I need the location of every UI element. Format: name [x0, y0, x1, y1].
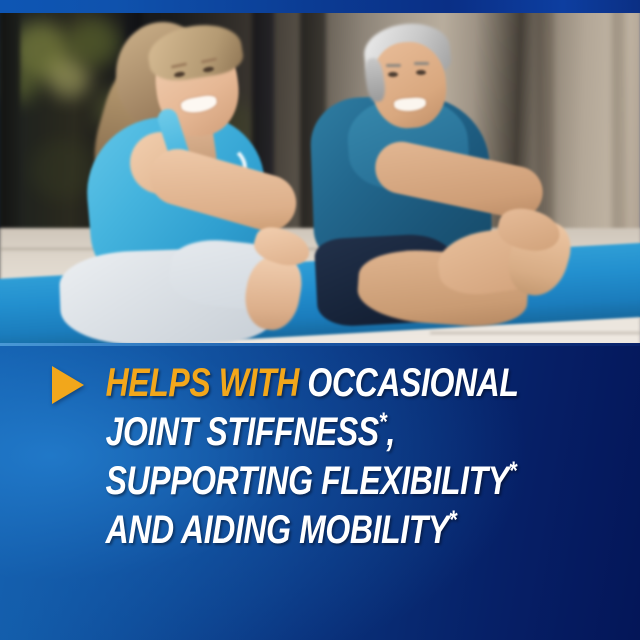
benefit-line-2: JOINT STIFFNESS*, — [0, 408, 512, 457]
man-stretching — [312, 14, 612, 346]
man-eyebrow — [386, 64, 401, 67]
benefit-line-2-tail: , — [386, 410, 395, 454]
benefit-line-3-asterisk: * — [509, 456, 517, 486]
man-eye — [388, 72, 398, 77]
woman-stretching — [40, 12, 340, 346]
top-blue-strip — [0, 0, 640, 13]
benefit-line-2-asterisk: * — [379, 407, 387, 437]
man-eyebrow — [414, 62, 429, 65]
benefit-line-3: SUPPORTING FLEXIBILITY* — [0, 457, 512, 506]
benefit-message-text: HELPS WITH OCCASIONAL JOINT STIFFNESS*, … — [0, 343, 640, 555]
man-eye — [416, 70, 426, 75]
benefit-line-3-text: SUPPORTING FLEXIBILITY — [106, 459, 509, 503]
benefit-line-1-rest: OCCASIONAL — [299, 361, 519, 405]
lifestyle-photo — [0, 0, 640, 346]
benefit-line-4-text: AND AIDING MOBILITY — [106, 508, 449, 552]
benefit-line-4-asterisk: * — [449, 505, 457, 535]
benefit-line-1-accent: HELPS WITH — [106, 361, 299, 405]
benefit-line-4: AND AIDING MOBILITY* — [0, 506, 512, 555]
benefit-message-banner: HELPS WITH OCCASIONAL JOINT STIFFNESS*, … — [0, 343, 640, 640]
advertisement-banner: HELPS WITH OCCASIONAL JOINT STIFFNESS*, … — [0, 0, 640, 640]
play-triangle-icon — [52, 366, 84, 404]
benefit-line-2-text: JOINT STIFFNESS — [106, 410, 379, 454]
